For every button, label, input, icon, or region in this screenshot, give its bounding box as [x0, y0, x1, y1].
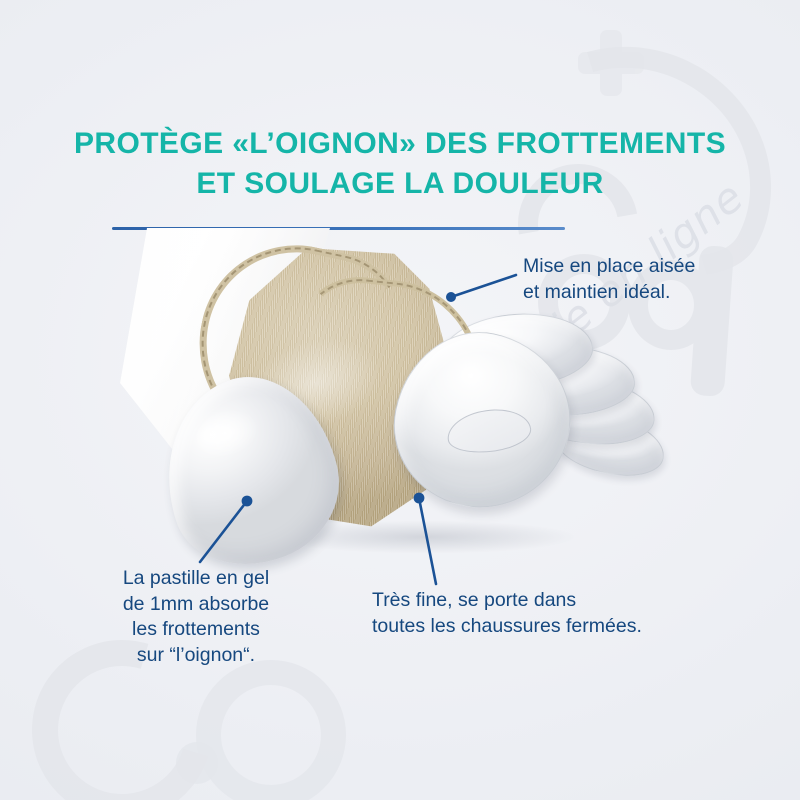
callout-thin: Très fine, se porte dans toutes les chau…	[372, 588, 642, 639]
watermark-dot	[176, 742, 218, 784]
callout-gel-pad: La pastille en gel de 1mm absorbe les fr…	[96, 566, 296, 669]
product-infographic: e pharmacie en ligne PROTÈGE «L’OIGNON» …	[0, 0, 800, 800]
cross-icon	[578, 30, 644, 96]
letter-o-icon	[196, 660, 346, 800]
callout-fit: Mise en place aisée et maintien idéal.	[523, 254, 695, 305]
page-title: PROTÈGE «L’OIGNON» DES FROTTEMENTS ET SO…	[0, 124, 800, 204]
